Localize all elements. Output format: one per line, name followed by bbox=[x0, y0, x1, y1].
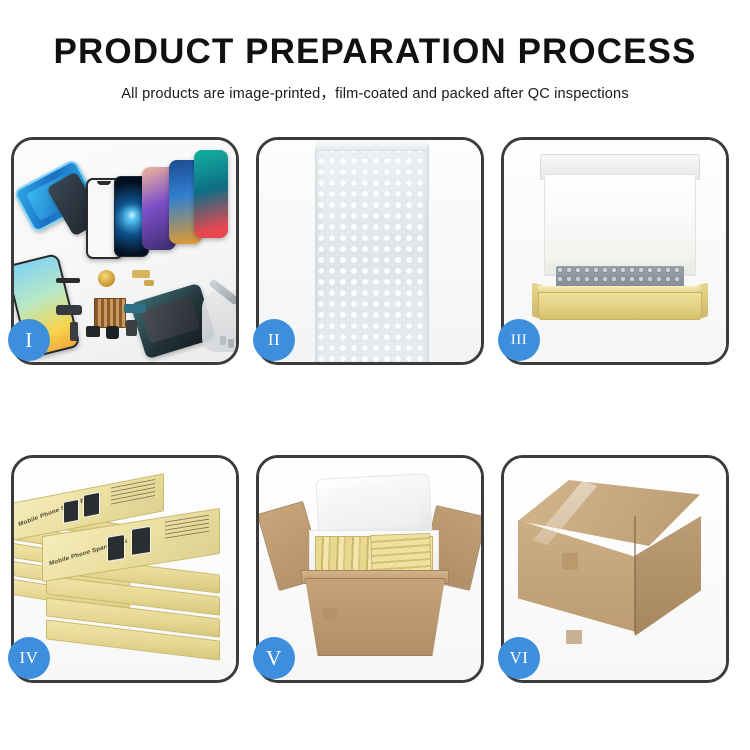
ribbon-cable-part-icon bbox=[124, 304, 146, 313]
battery-part-icon bbox=[126, 320, 137, 336]
page-subtitle: All products are image-printed，film-coat… bbox=[0, 82, 750, 103]
step-badge-6: VI bbox=[498, 637, 540, 679]
module-part-icon bbox=[86, 326, 100, 337]
step-image-2 bbox=[259, 140, 481, 362]
stacked-boxes-photo: Mobile Phone Spare Parts Mobile Phone Sp… bbox=[14, 458, 236, 680]
carton-edge-icon bbox=[634, 516, 636, 634]
step-image-5 bbox=[259, 458, 481, 680]
inner-box-photo bbox=[504, 140, 726, 362]
page-title: PRODUCT PREPARATION PROCESS bbox=[0, 34, 750, 71]
bubble-wrap-bag-icon bbox=[315, 144, 429, 362]
carton-tab-icon bbox=[566, 630, 582, 644]
box-spec-lines-icon bbox=[111, 479, 155, 508]
page-header: PRODUCT PREPARATION PROCESS All products… bbox=[0, 0, 750, 103]
step-badge-4: IV bbox=[8, 637, 50, 679]
screw-part-icon bbox=[228, 339, 234, 348]
step-badge-2: II bbox=[253, 319, 295, 361]
flex-cable-small-part-icon bbox=[144, 280, 154, 286]
carton-tab-icon bbox=[562, 553, 578, 570]
box-front-panel-icon bbox=[538, 292, 702, 320]
sealed-carton-photo bbox=[504, 458, 726, 680]
box-spec-lines-icon bbox=[165, 515, 209, 542]
bubble-wrapped-screen-photo bbox=[259, 140, 481, 362]
step-image-4: Mobile Phone Spare Parts Mobile Phone Sp… bbox=[14, 458, 236, 680]
chip-grid-part-icon bbox=[94, 298, 126, 328]
speaker-part-icon bbox=[56, 278, 80, 283]
step-image-1 bbox=[14, 140, 236, 362]
step-panel-5: V bbox=[256, 455, 484, 683]
bag-seal-icon bbox=[315, 140, 427, 151]
open-carton-photo bbox=[259, 458, 481, 680]
step-badge-3: III bbox=[498, 319, 540, 361]
coil-part-icon bbox=[98, 270, 115, 287]
step-image-6 bbox=[504, 458, 726, 680]
box-thumbnail-icon bbox=[131, 526, 151, 556]
step-panel-6: VI bbox=[501, 455, 729, 683]
step-panel-3: III bbox=[501, 137, 729, 365]
flex-cable-part-icon bbox=[132, 270, 150, 278]
step-image-3 bbox=[504, 140, 726, 362]
step-panel-1: I bbox=[11, 137, 239, 365]
screw-part-icon bbox=[220, 336, 226, 345]
box-thumbnail-icon bbox=[63, 499, 79, 524]
step-badge-5: V bbox=[253, 637, 295, 679]
step-panel-2: II bbox=[256, 137, 484, 365]
box-thumbnail-icon bbox=[83, 492, 100, 518]
carton-tab-icon bbox=[323, 608, 337, 620]
connector-part-icon bbox=[56, 305, 82, 315]
process-steps-grid: I II bbox=[11, 137, 739, 683]
step-panel-4: Mobile Phone Spare Parts Mobile Phone Sp… bbox=[11, 455, 239, 683]
sim-tray-part-icon bbox=[70, 322, 78, 341]
teal-wallpaper-phone-icon bbox=[194, 150, 228, 238]
step-badge-1: I bbox=[8, 319, 50, 361]
phone-parts-photo bbox=[14, 140, 236, 362]
white-foam-sheet-icon bbox=[546, 196, 692, 262]
camera-part-icon bbox=[106, 326, 119, 339]
box-thumbnail-icon bbox=[107, 534, 125, 562]
